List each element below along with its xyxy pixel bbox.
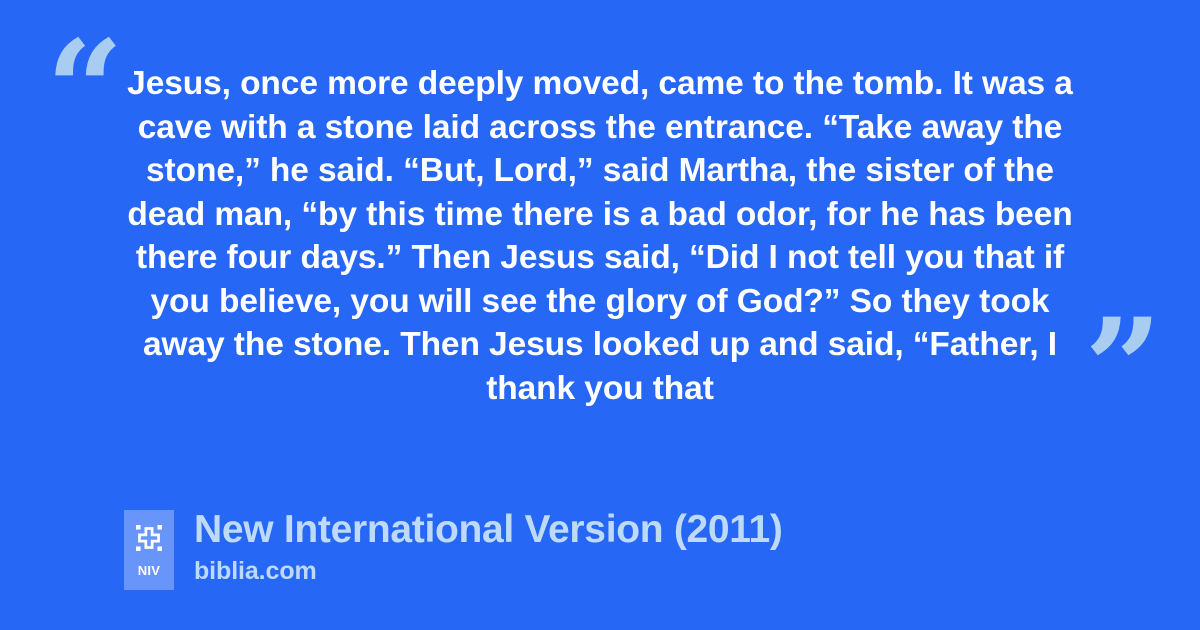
quote-text: Jesus, once more deeply moved, came to t… xyxy=(118,62,1082,410)
attribution-footer: NIV New International Version (2011) bib… xyxy=(124,508,783,590)
cross-selection-icon xyxy=(136,525,162,551)
site-name-label[interactable]: biblia.com xyxy=(194,556,783,586)
niv-logo-tile: NIV xyxy=(124,510,174,590)
bible-version-title: New International Version (2011) xyxy=(194,508,783,552)
version-abbreviation: NIV xyxy=(138,564,161,577)
closing-quote-icon: ” xyxy=(1084,300,1160,435)
opening-quote-icon: “ xyxy=(46,22,122,157)
quote-card: “ Jesus, once more deeply moved, came to… xyxy=(0,0,1200,630)
attribution-text-group: New International Version (2011) biblia.… xyxy=(194,508,783,586)
quote-body: Jesus, once more deeply moved, came to t… xyxy=(118,62,1082,410)
